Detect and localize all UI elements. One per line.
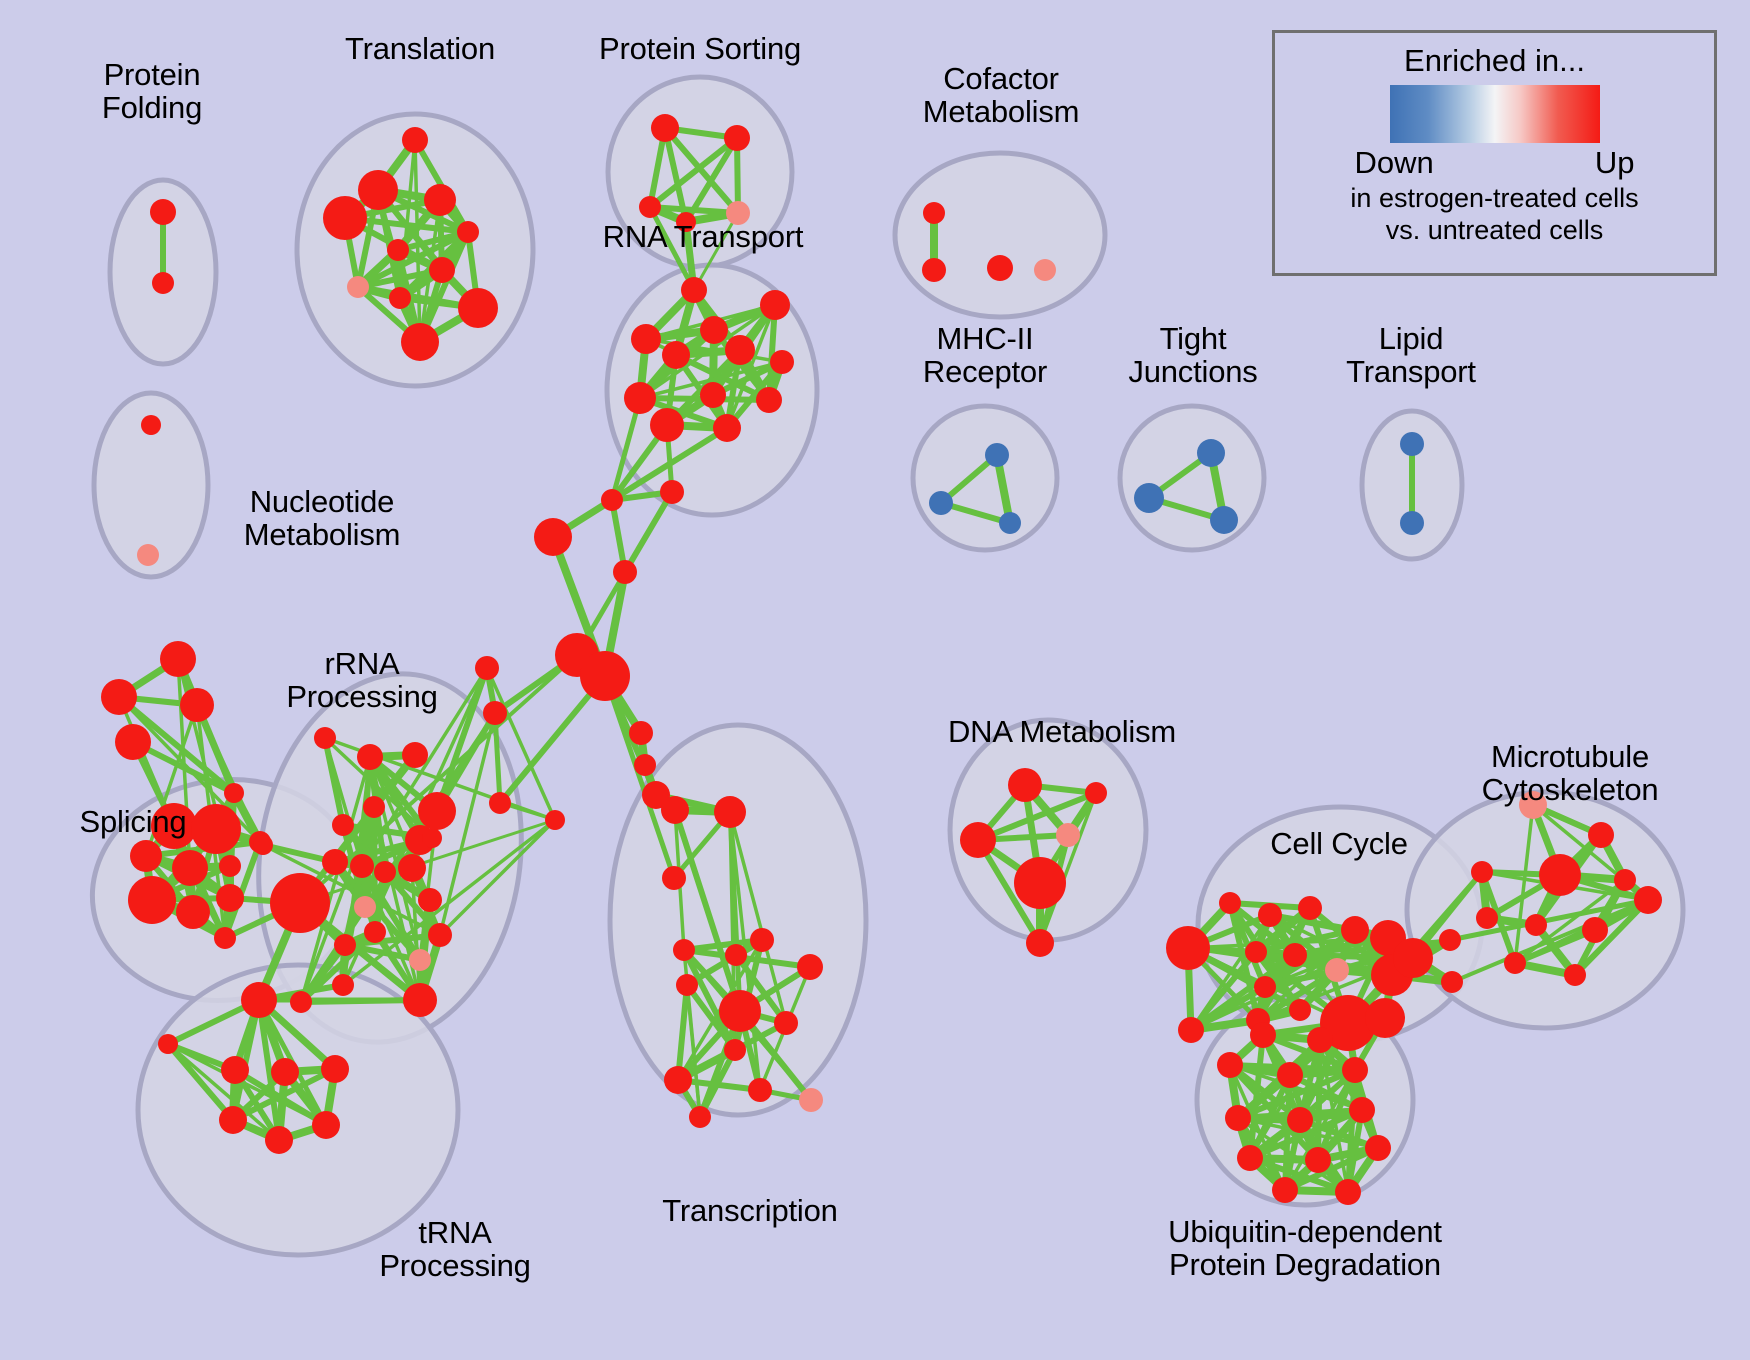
network-node-cc11[interactable] [1393, 938, 1433, 978]
cluster-hull-mhc-ii-receptor [913, 406, 1057, 550]
network-node-sp5[interactable] [191, 804, 241, 854]
network-node-rr12[interactable] [422, 828, 442, 848]
network-node-tx7[interactable] [676, 974, 698, 996]
network-node-sp1[interactable] [180, 688, 214, 722]
network-node-rr15[interactable] [364, 921, 386, 943]
network-node-rt9[interactable] [700, 382, 726, 408]
network-node-cc19[interactable] [1441, 971, 1463, 993]
network-node-dm5[interactable] [1014, 857, 1066, 909]
network-node-ch11[interactable] [489, 792, 511, 814]
cluster-label-mhc-ii-receptor: MHC-II Receptor [923, 322, 1047, 388]
network-node-rt3[interactable] [700, 316, 728, 344]
network-node-tr10[interactable] [458, 288, 498, 328]
network-node-tr4[interactable] [323, 196, 367, 240]
network-node-sp11[interactable] [216, 884, 244, 912]
network-node-rr19[interactable] [403, 983, 437, 1017]
network-node-pf1[interactable] [150, 199, 176, 225]
network-node-tn4[interactable] [271, 1058, 299, 1086]
network-node-tn1[interactable] [241, 982, 277, 1018]
network-node-mt3[interactable] [1471, 861, 1493, 883]
network-node-mh2[interactable] [929, 491, 953, 515]
network-node-tn6[interactable] [219, 1106, 247, 1134]
cluster-label-translation: Translation [345, 32, 495, 65]
cluster-label-rna-transport: RNA Transport [603, 220, 804, 253]
network-node-rt1[interactable] [681, 277, 707, 303]
network-node-tj2[interactable] [1134, 483, 1164, 513]
network-node-rr21[interactable] [290, 991, 312, 1013]
cluster-hull-tight-junctions [1120, 406, 1264, 550]
network-node-mt11[interactable] [1564, 964, 1586, 986]
network-node-lt2[interactable] [1400, 511, 1424, 535]
cluster-label-tight-junctions: Tight Junctions [1128, 322, 1257, 388]
network-node-tn3[interactable] [221, 1056, 249, 1084]
network-node-rr16[interactable] [334, 934, 356, 956]
cluster-label-dna-metabolism: DNA Metabolism [948, 715, 1176, 748]
cluster-label-protein-folding: Protein Folding [102, 58, 202, 124]
network-node-sp9[interactable] [128, 876, 176, 924]
network-node-tx6[interactable] [797, 954, 823, 980]
network-node-rt4[interactable] [631, 324, 661, 354]
network-node-rr17[interactable] [409, 949, 431, 971]
network-node-rr4[interactable] [363, 796, 385, 818]
network-node-mt6[interactable] [1476, 907, 1498, 929]
network-node-tr7[interactable] [429, 257, 455, 283]
network-node-mt5[interactable] [1614, 869, 1636, 891]
network-node-tn7[interactable] [312, 1111, 340, 1139]
network-node-cc7[interactable] [1283, 943, 1307, 967]
network-node-ub4[interactable] [1277, 1062, 1303, 1088]
network-node-tr6[interactable] [387, 239, 409, 261]
network-node-cc2[interactable] [1258, 903, 1282, 927]
legend-box: Enriched in... Down Up in estrogen-treat… [1272, 30, 1717, 276]
network-node-rr20[interactable] [418, 792, 456, 830]
network-node-tx4[interactable] [673, 939, 695, 961]
network-node-pf2[interactable] [152, 272, 174, 294]
network-node-tx3[interactable] [750, 928, 774, 952]
network-node-rr2[interactable] [357, 744, 383, 770]
network-node-cf3[interactable] [987, 255, 1013, 281]
legend-color-gradient [1390, 85, 1600, 143]
cluster-label-rrna-processing: rRNA Processing [286, 647, 437, 713]
network-node-rt8[interactable] [624, 382, 656, 414]
network-node-dm4[interactable] [1056, 823, 1080, 847]
network-node-ch7[interactable] [629, 721, 653, 745]
network-node-rr10[interactable] [374, 861, 396, 883]
network-node-rr1[interactable] [314, 727, 336, 749]
network-node-tx5[interactable] [725, 944, 747, 966]
network-node-nm1[interactable] [141, 415, 161, 435]
network-node-ub11[interactable] [1365, 1135, 1391, 1161]
network-node-ub9[interactable] [1237, 1145, 1263, 1171]
network-node-ch10[interactable] [662, 866, 686, 890]
network-node-mt9[interactable] [1634, 886, 1662, 914]
network-node-rt10[interactable] [756, 387, 782, 413]
network-node-ps1[interactable] [651, 114, 679, 142]
cluster-label-cell-cycle: Cell Cycle [1270, 827, 1408, 860]
network-node-dm3[interactable] [960, 822, 996, 858]
network-node-cc16[interactable] [1365, 998, 1405, 1038]
network-node-tx12[interactable] [748, 1078, 772, 1102]
network-node-ub1[interactable] [1250, 1022, 1276, 1048]
network-node-tx2[interactable] [714, 796, 746, 828]
cluster-hull-cofactor-metabolism [895, 153, 1105, 317]
network-node-rr23[interactable] [253, 835, 273, 855]
network-node-sp10[interactable] [176, 895, 210, 929]
network-node-ub10[interactable] [1305, 1147, 1331, 1173]
network-node-sp3[interactable] [224, 783, 244, 803]
network-node-tr3[interactable] [424, 184, 456, 216]
network-node-tj1[interactable] [1197, 439, 1225, 467]
network-node-tx8[interactable] [719, 990, 761, 1032]
network-node-tn8[interactable] [265, 1126, 293, 1154]
network-node-rr13[interactable] [418, 888, 442, 912]
network-node-cc6[interactable] [1245, 941, 1267, 963]
network-node-tj3[interactable] [1210, 506, 1238, 534]
network-node-tx11[interactable] [664, 1066, 692, 1094]
network-node-cf4[interactable] [1034, 259, 1056, 281]
cluster-label-splicing: Splicing [80, 805, 187, 838]
legend-title: Enriched in... [1404, 43, 1585, 79]
network-node-ub13[interactable] [1335, 1179, 1361, 1205]
legend-up-label: Up [1595, 145, 1635, 181]
network-node-hub1[interactable] [160, 641, 196, 677]
legend-endpoints: Down Up [1355, 145, 1635, 181]
network-node-tn5[interactable] [321, 1055, 349, 1083]
network-node-tr2[interactable] [358, 170, 398, 210]
network-node-rr9[interactable] [350, 854, 374, 878]
network-node-sp13[interactable] [214, 927, 236, 949]
network-node-cf2[interactable] [922, 258, 946, 282]
network-node-cc14[interactable] [1178, 1017, 1204, 1043]
network-node-dm6[interactable] [1026, 929, 1054, 957]
network-node-mh3[interactable] [999, 512, 1021, 534]
network-node-ch8[interactable] [634, 754, 656, 776]
network-node-rr14[interactable] [428, 923, 452, 947]
network-node-rt7[interactable] [770, 350, 794, 374]
network-node-ch3[interactable] [534, 518, 572, 556]
network-node-cc1[interactable] [1166, 926, 1210, 970]
network-node-cc18[interactable] [1439, 929, 1461, 951]
network-node-sp6[interactable] [130, 840, 162, 872]
network-node-tx9[interactable] [774, 1011, 798, 1035]
network-node-cc10[interactable] [1254, 976, 1276, 998]
network-node-mh1[interactable] [985, 443, 1009, 467]
network-node-cc4[interactable] [1341, 916, 1369, 944]
network-node-cc8[interactable] [1325, 958, 1349, 982]
network-node-ub5[interactable] [1342, 1057, 1368, 1083]
network-node-ch2[interactable] [660, 480, 684, 504]
network-node-ub2[interactable] [1307, 1027, 1333, 1053]
network-node-tn2[interactable] [158, 1034, 178, 1054]
cluster-label-lipid-transport: Lipid Transport [1346, 322, 1476, 388]
network-node-tr5[interactable] [457, 221, 479, 243]
network-node-hub5[interactable] [545, 810, 565, 830]
network-node-tx10[interactable] [724, 1039, 746, 1061]
network-node-ps2[interactable] [724, 125, 750, 151]
cluster-label-transcription: Transcription [662, 1194, 837, 1227]
network-node-mt7[interactable] [1525, 914, 1547, 936]
network-node-ub6[interactable] [1225, 1105, 1251, 1131]
network-node-rt11[interactable] [650, 408, 684, 442]
network-node-mt8[interactable] [1582, 917, 1608, 943]
network-node-tr9[interactable] [389, 287, 411, 309]
legend-down-label: Down [1355, 145, 1434, 181]
network-node-ch1[interactable] [601, 489, 623, 511]
cluster-label-microtubule-cytoskeleton: Microtubule Cytoskeleton [1482, 740, 1659, 806]
network-node-nm2[interactable] [137, 544, 159, 566]
network-node-mt10[interactable] [1504, 952, 1526, 974]
network-node-hub2[interactable] [101, 679, 137, 715]
network-node-lt1[interactable] [1400, 432, 1424, 456]
cluster-label-ubiquitin-protein-degradation: Ubiquitin-dependent Protein Degradation [1168, 1215, 1442, 1281]
network-node-rr8[interactable] [322, 849, 348, 875]
network-node-ch6[interactable] [580, 651, 630, 701]
network-node-rr7[interactable] [398, 854, 426, 882]
network-node-mt2[interactable] [1588, 822, 1614, 848]
network-node-sp7[interactable] [172, 850, 208, 886]
network-node-cf1[interactable] [923, 202, 945, 224]
network-node-cc3[interactable] [1298, 896, 1322, 920]
cluster-label-nucleotide-metabolism: Nucleotide Metabolism [244, 485, 401, 551]
network-node-sp8[interactable] [219, 855, 241, 877]
network-node-tr8[interactable] [347, 276, 369, 298]
network-node-rr11[interactable] [354, 896, 376, 918]
network-node-tr11[interactable] [401, 323, 439, 361]
network-node-cc17[interactable] [1219, 892, 1241, 914]
legend-caption-line2: vs. untreated cells [1386, 215, 1604, 245]
network-node-rr18[interactable] [332, 974, 354, 996]
network-node-ub12[interactable] [1272, 1177, 1298, 1203]
network-node-cc12[interactable] [1289, 999, 1311, 1021]
network-node-ub8[interactable] [1349, 1097, 1375, 1123]
network-node-hub4[interactable] [475, 656, 499, 680]
network-node-sp2[interactable] [115, 724, 151, 760]
network-node-tx1[interactable] [661, 796, 689, 824]
cluster-label-cofactor-metabolism: Cofactor Metabolism [923, 62, 1080, 128]
network-node-ch4[interactable] [613, 560, 637, 584]
network-node-ub7[interactable] [1287, 1107, 1313, 1133]
network-canvas: Protein FoldingTranslationProtein Sortin… [0, 0, 1750, 1360]
network-node-dm1[interactable] [1008, 768, 1042, 802]
network-node-rt6[interactable] [725, 335, 755, 365]
legend-caption-line1: in estrogen-treated cells [1350, 183, 1638, 213]
network-node-tx14[interactable] [689, 1106, 711, 1128]
network-node-tx13[interactable] [799, 1088, 823, 1112]
network-node-mt4[interactable] [1539, 854, 1581, 896]
network-node-rr5[interactable] [332, 814, 354, 836]
cluster-label-trna-processing: tRNA Processing [379, 1216, 530, 1282]
network-node-ub3[interactable] [1217, 1052, 1243, 1078]
network-node-hub3[interactable] [483, 701, 507, 725]
network-node-rt2[interactable] [760, 290, 790, 320]
network-node-rr22[interactable] [270, 873, 330, 933]
network-node-tr1[interactable] [402, 127, 428, 153]
network-node-rt12[interactable] [713, 414, 741, 442]
network-node-rt5[interactable] [662, 341, 690, 369]
network-node-ps3[interactable] [639, 196, 661, 218]
network-node-dm2[interactable] [1085, 782, 1107, 804]
cluster-label-protein-sorting: Protein Sorting [599, 32, 801, 65]
network-node-rr3[interactable] [402, 742, 428, 768]
